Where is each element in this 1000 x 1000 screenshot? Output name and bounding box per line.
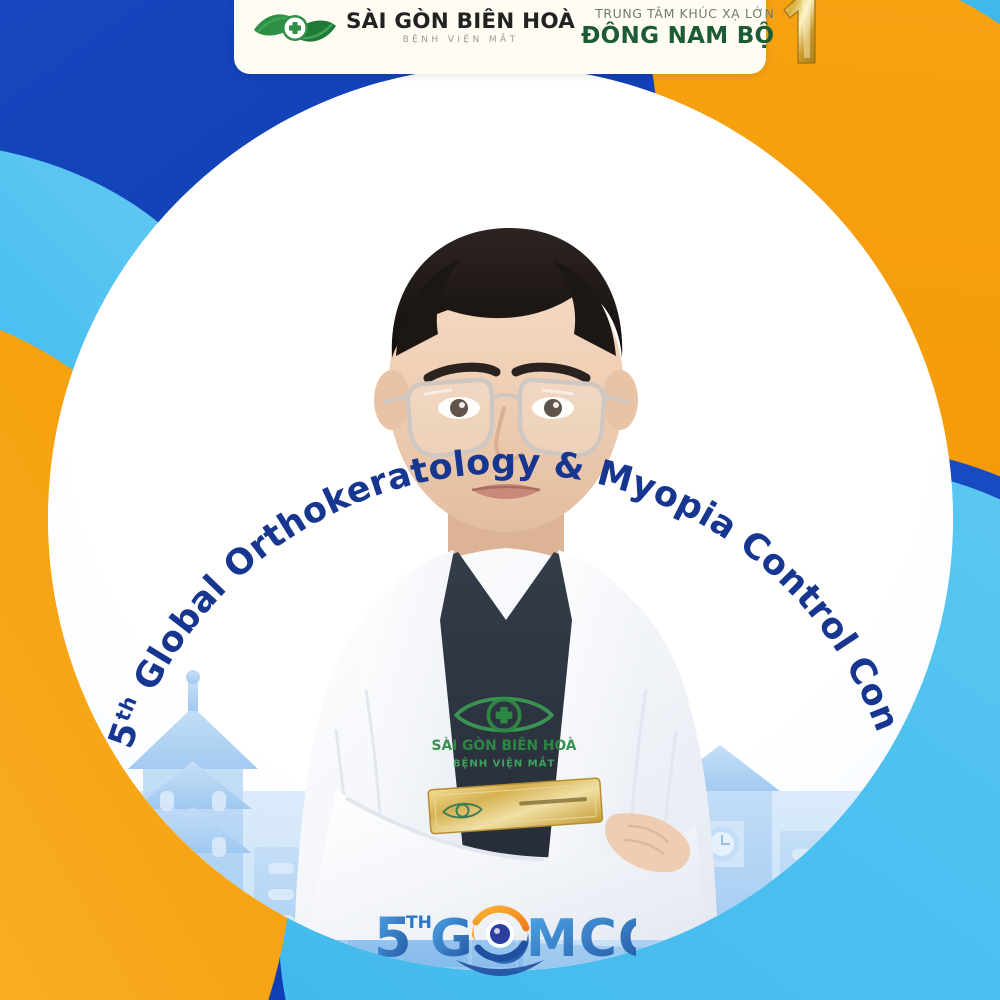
rank-line-1: TRUNG TÂM KHÚC XẠ LỚN bbox=[595, 8, 774, 21]
hospital-subtitle: BỆNH VIỆN MẮT bbox=[346, 36, 575, 45]
hospital-header-card: SÀI GÒN BIÊN HOÀ BỆNH VIỆN MẮT TRUNG TÂM… bbox=[234, 0, 766, 74]
gomcc-logo: 5 TH G MCC bbox=[368, 884, 636, 980]
hospital-name: SÀI GÒN BIÊN HOÀ bbox=[346, 11, 575, 33]
rank-line-2: ĐÔNG NAM BỘ bbox=[581, 25, 774, 48]
doctor-portrait: SÀI GÒN BIÊN HOÀ BỆNH VIỆN MẮT bbox=[196, 150, 816, 940]
gold-number-one-icon bbox=[772, 0, 826, 66]
white-circular-stage: SÀI GÒN BIÊN HOÀ BỆNH VIỆN MẮT bbox=[48, 66, 953, 971]
gomcc-letters-after: MCC bbox=[526, 909, 636, 969]
hospital-brand-group: SÀI GÒN BIÊN HOÀ BỆNH VIỆN MẮT bbox=[252, 6, 575, 50]
rank-text-group: TRUNG TÂM KHÚC XẠ LỚN ĐÔNG NAM BỘ bbox=[581, 8, 774, 49]
brand-text-group: SÀI GÒN BIÊN HOÀ BỆNH VIỆN MẮT bbox=[346, 11, 575, 46]
gomcc-letters-before: G bbox=[430, 909, 473, 969]
gomcc-ordinal-suffix: TH bbox=[406, 913, 432, 933]
conference-poster: SÀI GÒN BIÊN HOÀ BỆNH VIỆN MẮT bbox=[0, 0, 1000, 1000]
eye-with-medical-cross-icon bbox=[252, 6, 338, 50]
rank-badge-group: TRUNG TÂM KHÚC XẠ LỚN ĐÔNG NAM BỘ bbox=[581, 0, 826, 66]
coat-logo-text: SÀI GÒN BIÊN HOÀ bbox=[432, 736, 577, 754]
